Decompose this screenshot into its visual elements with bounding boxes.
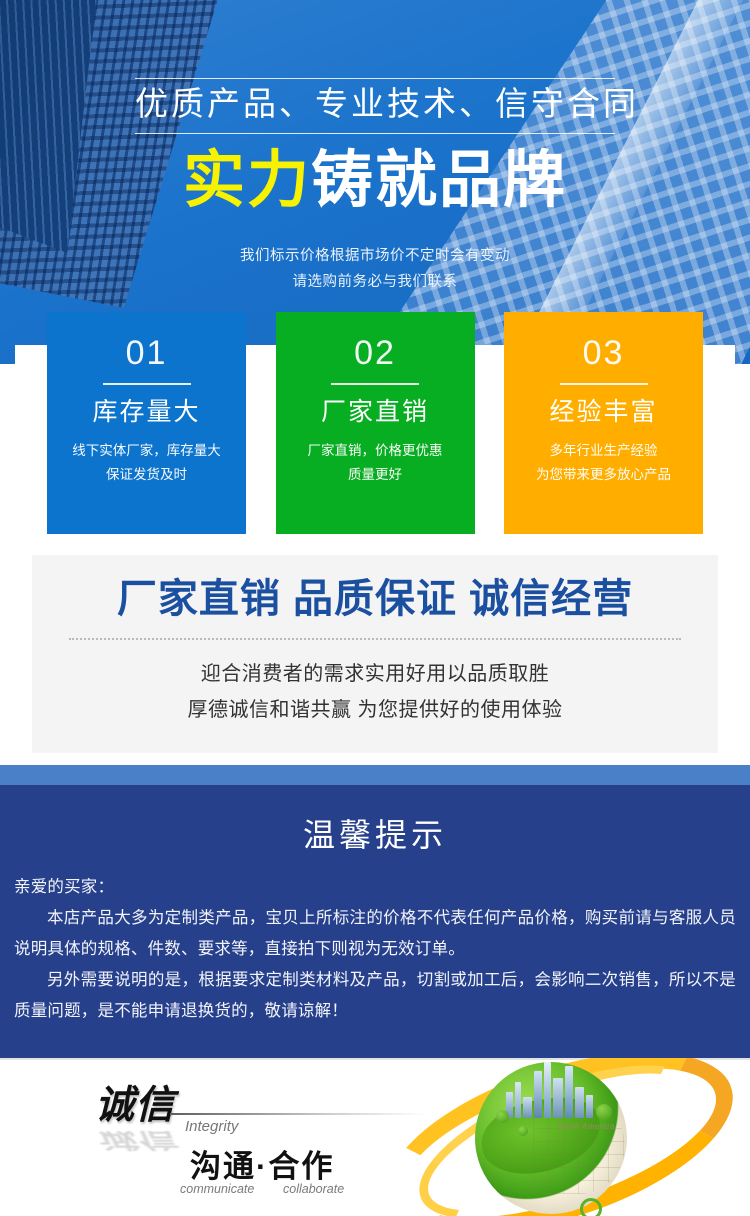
hero-tagline: 优质产品、专业技术、信守合同	[135, 85, 615, 124]
hero-banner: 优质产品、专业技术、信守合同 实力铸就品牌 我们标示价格根据市场价不定时会有变动…	[0, 0, 750, 364]
card-title: 厂家直销	[276, 399, 475, 427]
communicate-label-en: communicate	[180, 1182, 380, 1196]
card-title: 经验丰富	[504, 399, 703, 427]
hero-tagline-frame: 优质产品、专业技术、信守合同	[135, 78, 615, 134]
globe-graphic: North America	[400, 1058, 750, 1216]
card-description-line1: 多年行业生产经验	[510, 439, 697, 463]
card-title: 库存量大	[47, 399, 246, 427]
tree-icon	[518, 1126, 528, 1136]
integrity-divider	[170, 1113, 425, 1115]
card-description-line2: 为您带来更多放心产品	[510, 463, 697, 487]
integrity-subtitle-en: Integrity	[185, 1118, 238, 1135]
feature-card-03[interactable]: 03 经验丰富 多年行业生产经验 为您带来更多放心产品	[504, 312, 703, 534]
tips-section: 温馨提示 亲爱的买家： 本店产品大多为定制类产品，宝贝上所标注的价格不代表任何产…	[0, 785, 750, 1058]
card-description: 多年行业生产经验 为您带来更多放心产品	[504, 439, 703, 487]
card-number: 03	[504, 336, 703, 370]
slogan-block: 厂家直销 品质保证 诚信经营 迎合消费者的需求实用好用以品质取胜 厚德诚信和谐共…	[32, 555, 718, 753]
card-description: 厂家直销，价格更优惠 质量更好	[276, 439, 475, 487]
integrity-reflection: 诚信	[95, 1127, 175, 1158]
slogan-headline: 厂家直销 品质保证 诚信经营	[32, 555, 718, 624]
tips-top-strip	[0, 765, 750, 785]
tips-title: 温馨提示	[0, 785, 750, 856]
footer-graphic: 诚信 诚信 Integrity 沟通·合作 communicate collab…	[0, 1058, 750, 1216]
tips-body: 亲爱的买家： 本店产品大多为定制类产品，宝贝上所标注的价格不代表任何产品价格，购…	[14, 872, 736, 1027]
card-description-line1: 线下实体厂家，库存量大	[53, 439, 240, 463]
slogan-subtext-line1: 迎合消费者的需求实用好用以品质取胜	[32, 656, 718, 692]
hero-subtitle-line2: 请选购前务必与我们联系	[0, 269, 750, 295]
communicate-collaborate-title: 沟通·合作	[190, 1141, 334, 1186]
tips-paragraph-1: 本店产品大多为定制类产品，宝贝上所标注的价格不代表任何产品价格，购买前请与客服人…	[14, 903, 736, 965]
green-ring-accent-icon	[580, 1198, 602, 1216]
card-divider	[103, 383, 191, 385]
hero-subtitle-line1: 我们标示价格根据市场价不定时会有变动	[0, 243, 750, 269]
feature-card-02[interactable]: 02 厂家直销 厂家直销，价格更优惠 质量更好	[276, 312, 475, 534]
collaborate-label-en: collaborate	[283, 1182, 344, 1196]
feature-cards: 01 库存量大 线下实体厂家，库存量大 保证发货及时 02 厂家直销 厂家直销，…	[47, 312, 703, 534]
hero-title: 实力铸就品牌	[0, 150, 750, 212]
map-region-label: North America	[558, 1122, 615, 1131]
card-description: 线下实体厂家，库存量大 保证发货及时	[47, 439, 246, 487]
hero-subtitle: 我们标示价格根据市场价不定时会有变动 请选购前务必与我们联系	[0, 243, 750, 295]
integrity-title: 诚信	[95, 1074, 175, 1130]
card-description-line2: 保证发货及时	[53, 463, 240, 487]
slogan-dotted-divider	[69, 638, 681, 640]
card-divider	[560, 383, 648, 385]
hero-content: 优质产品、专业技术、信守合同 实力铸就品牌 我们标示价格根据市场价不定时会有变动…	[0, 0, 750, 364]
card-description-line2: 质量更好	[282, 463, 469, 487]
hero-title-rest: 铸就品牌	[311, 146, 567, 215]
card-divider	[331, 383, 419, 385]
tree-icon	[496, 1110, 509, 1123]
tips-paragraph-2: 另外需要说明的是，根据要求定制类材料及产品，切割或加工后，会影响二次销售，所以不…	[14, 965, 736, 1027]
slogan-subtext: 迎合消费者的需求实用好用以品质取胜 厚德诚信和谐共赢 为您提供好的使用体验	[32, 656, 718, 728]
tips-salutation: 亲爱的买家：	[14, 872, 736, 903]
feature-card-01[interactable]: 01 库存量大 线下实体厂家，库存量大 保证发货及时	[47, 312, 246, 534]
card-description-line1: 厂家直销，价格更优惠	[282, 439, 469, 463]
slogan-subtext-line2: 厚德诚信和谐共赢 为您提供好的使用体验	[32, 692, 718, 728]
card-number: 02	[276, 336, 475, 370]
card-number: 01	[47, 336, 246, 370]
hero-title-highlight: 实力	[183, 146, 311, 215]
tree-icon	[596, 1104, 612, 1120]
